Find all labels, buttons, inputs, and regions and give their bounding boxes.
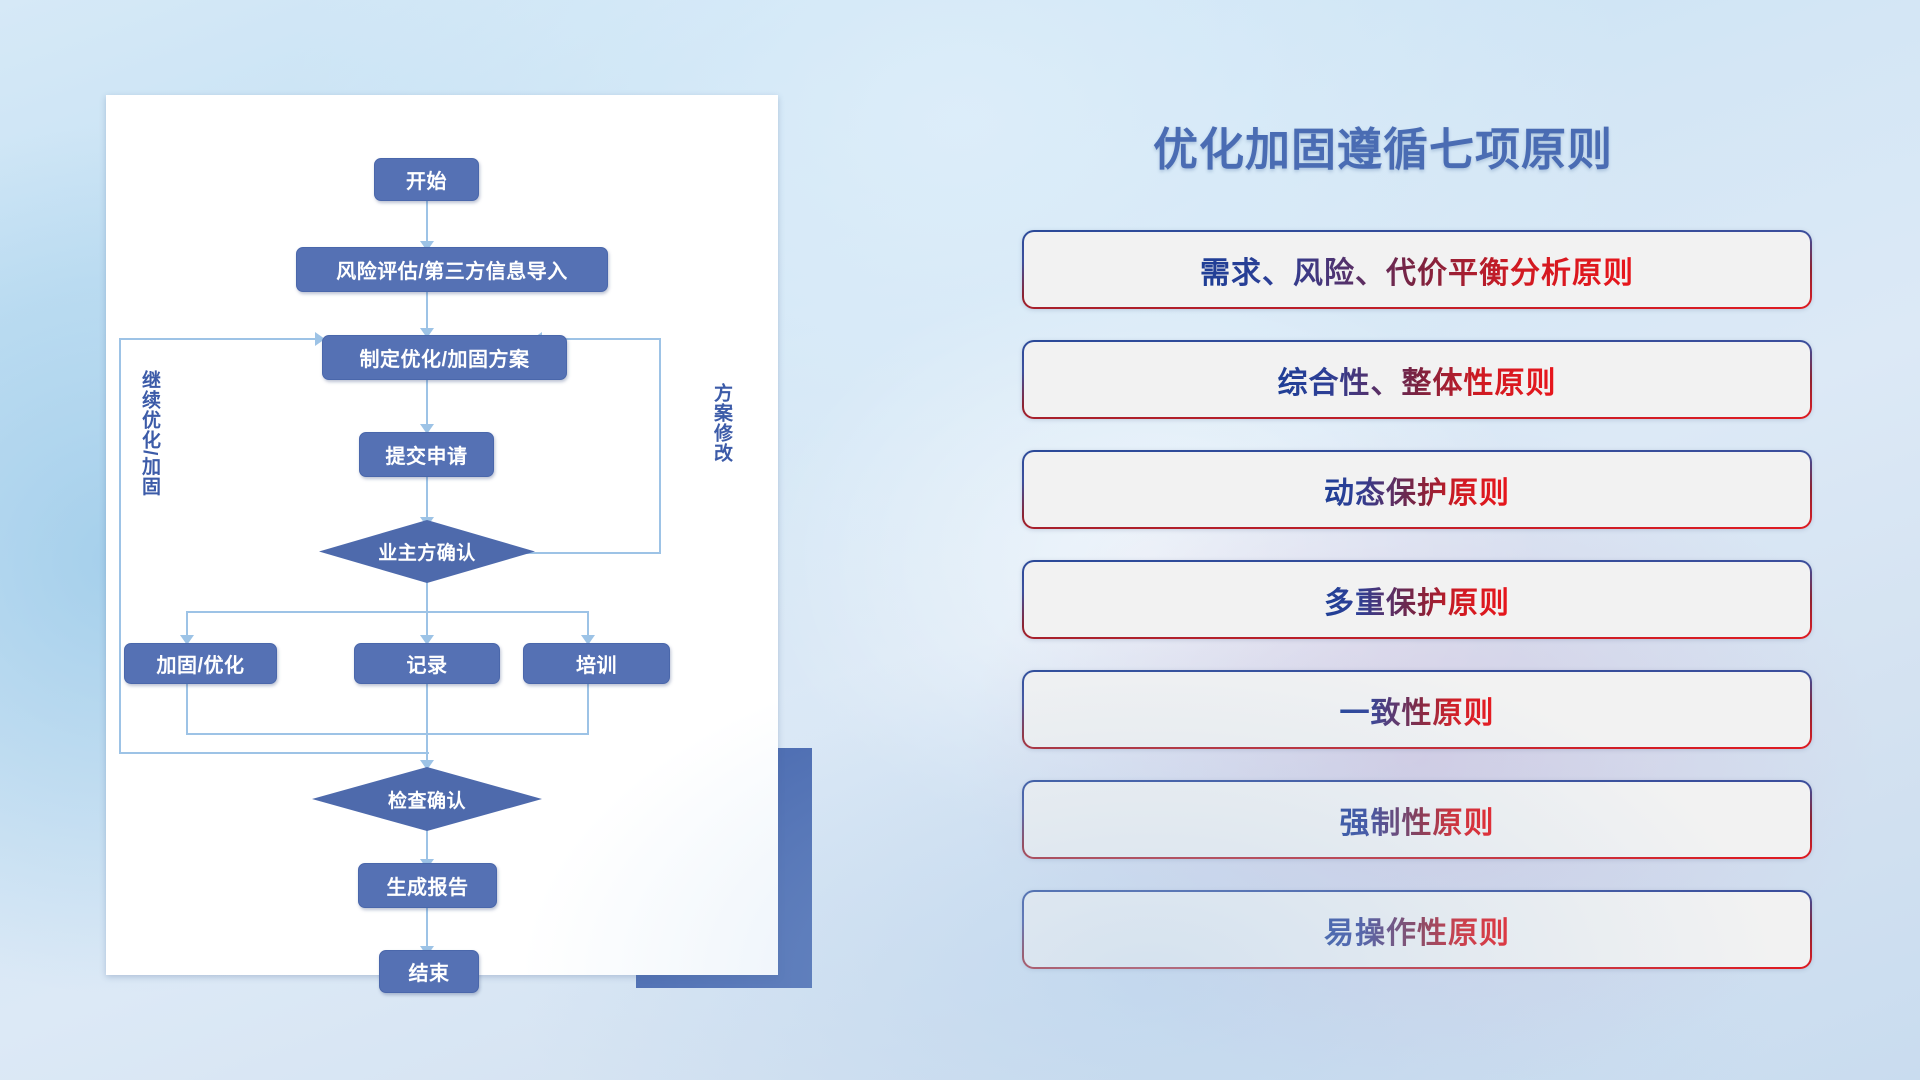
connector-start-risk bbox=[426, 201, 428, 245]
flow-node-start[interactable]: 开始 bbox=[374, 158, 479, 201]
principle-item-5-label: 一致性原则 bbox=[1340, 688, 1495, 732]
merge-right-down bbox=[587, 680, 589, 734]
flow-node-record[interactable]: 记录 bbox=[354, 643, 500, 684]
flow-node-end-label: 结束 bbox=[409, 957, 450, 986]
flow-node-report-label: 生成报告 bbox=[387, 871, 469, 900]
flow-node-plan-label: 制定优化/加固方案 bbox=[359, 343, 529, 372]
principle-item-3-label: 动态保护原则 bbox=[1324, 468, 1510, 512]
flow-node-check-confirm-label: 检查确认 bbox=[388, 786, 466, 813]
principle-item-6-label: 强制性原则 bbox=[1340, 798, 1495, 842]
principle-item-2-label: 综合性、整体性原则 bbox=[1278, 358, 1557, 402]
principle-item-1[interactable]: 需求、风险、代价平衡分析原则 bbox=[1022, 230, 1812, 309]
principle-item-4-label: 多重保护原则 bbox=[1324, 578, 1510, 622]
flow-node-risk-assessment-label: 风险评估/第三方信息导入 bbox=[336, 255, 568, 284]
merge-left-down bbox=[186, 680, 188, 734]
flow-node-training[interactable]: 培训 bbox=[523, 643, 670, 684]
flow-node-report[interactable]: 生成报告 bbox=[358, 863, 497, 908]
principle-item-6[interactable]: 强制性原则 bbox=[1022, 780, 1812, 859]
merge-bar bbox=[186, 733, 589, 735]
loop-right-vertical bbox=[659, 338, 661, 554]
principle-item-5[interactable]: 一致性原则 bbox=[1022, 670, 1812, 749]
principle-item-1-label: 需求、风险、代价平衡分析原则 bbox=[1200, 248, 1634, 292]
principle-item-3[interactable]: 动态保护原则 bbox=[1022, 450, 1812, 529]
edge-label-continue-optimize: 继续优化/加固 bbox=[139, 370, 159, 496]
principle-list: 需求、风险、代价平衡分析原则 综合性、整体性原则 动态保护原则 多重保护原则 一… bbox=[1022, 230, 1812, 1000]
flow-node-start-label: 开始 bbox=[406, 165, 447, 194]
slide-canvas: 开始 风险评估/第三方信息导入 制定优化/加固方案 提交申请 业主方确认 加固/… bbox=[0, 0, 1920, 1080]
page-title: 优化加固遵循七项原则 bbox=[1153, 113, 1613, 178]
connector-submit-owner bbox=[426, 477, 428, 521]
flowchart-card: 开始 风险评估/第三方信息导入 制定优化/加固方案 提交申请 业主方确认 加固/… bbox=[106, 95, 778, 975]
principle-item-7[interactable]: 易操作性原则 bbox=[1022, 890, 1812, 969]
flow-node-end[interactable]: 结束 bbox=[379, 950, 479, 993]
connector-risk-plan bbox=[426, 292, 428, 332]
flow-node-record-label: 记录 bbox=[407, 649, 448, 678]
loop-left-vertical bbox=[119, 338, 121, 754]
flow-node-submit[interactable]: 提交申请 bbox=[359, 432, 494, 477]
merge-mid-down bbox=[426, 680, 428, 764]
flow-node-check-confirm[interactable]: 检查确认 bbox=[312, 767, 542, 831]
loop-right-bottom bbox=[518, 552, 661, 554]
flow-node-reinforce-label: 加固/优化 bbox=[156, 649, 244, 678]
connector-report-end bbox=[426, 908, 428, 950]
flow-node-owner-confirm[interactable]: 业主方确认 bbox=[319, 520, 535, 583]
loop-left-bottom bbox=[119, 752, 429, 754]
principle-item-4[interactable]: 多重保护原则 bbox=[1022, 560, 1812, 639]
flow-node-risk-assessment[interactable]: 风险评估/第三方信息导入 bbox=[296, 247, 608, 292]
connector-plan-submit bbox=[426, 380, 428, 428]
flow-node-reinforce[interactable]: 加固/优化 bbox=[124, 643, 277, 684]
flow-node-training-label: 培训 bbox=[576, 649, 617, 678]
connector-owner-down bbox=[426, 582, 428, 612]
edge-label-plan-revision: 方案修改 bbox=[711, 383, 731, 463]
loop-left-top bbox=[119, 338, 319, 340]
principle-item-2[interactable]: 综合性、整体性原则 bbox=[1022, 340, 1812, 419]
branch-bar-top bbox=[186, 611, 588, 613]
principle-item-7-label: 易操作性原则 bbox=[1324, 908, 1510, 952]
flow-node-submit-label: 提交申请 bbox=[386, 440, 468, 469]
flow-node-owner-confirm-label: 业主方确认 bbox=[378, 538, 476, 565]
flow-node-plan[interactable]: 制定优化/加固方案 bbox=[322, 335, 567, 380]
